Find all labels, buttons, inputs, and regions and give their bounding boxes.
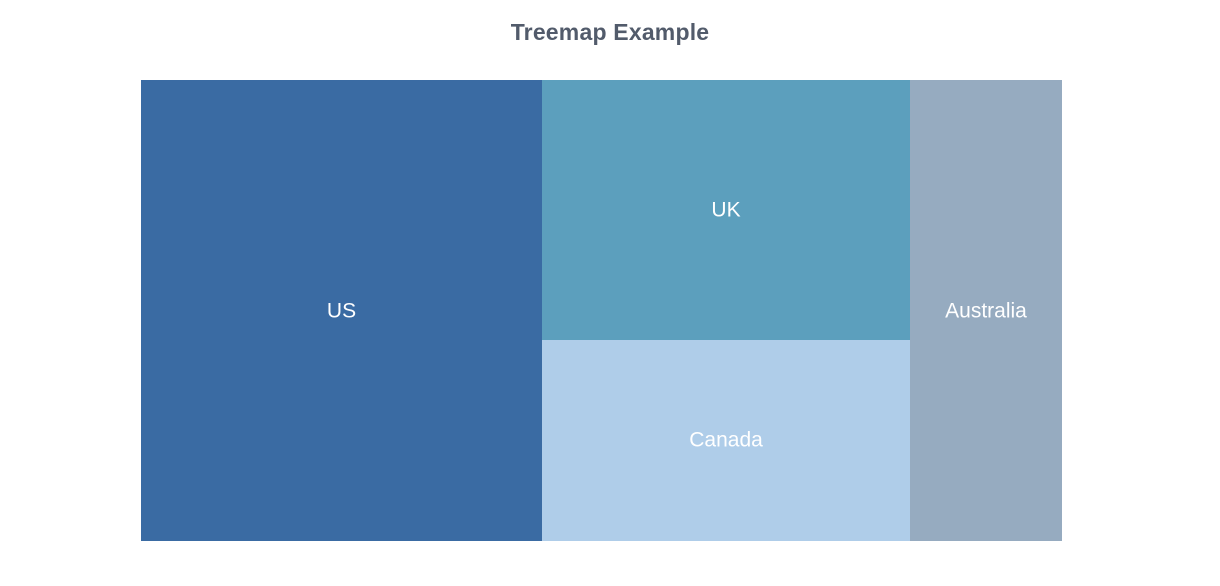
treemap-tile-us[interactable]: US: [141, 80, 542, 541]
treemap-tile-label: US: [141, 299, 542, 322]
treemap-tile-australia[interactable]: Australia: [910, 80, 1062, 541]
treemap-tile-uk[interactable]: UK: [542, 80, 910, 340]
chart-title: Treemap Example: [0, 19, 1220, 46]
treemap-tile-label: Australia: [910, 299, 1062, 322]
treemap-tile-label: UK: [542, 198, 910, 221]
treemap-tile-canada[interactable]: Canada: [542, 340, 910, 541]
treemap-figure: Treemap Example US UK Canada Australia: [0, 0, 1220, 586]
treemap-plot-area: US UK Canada Australia: [141, 80, 1062, 541]
treemap-tile-label: Canada: [542, 429, 910, 452]
